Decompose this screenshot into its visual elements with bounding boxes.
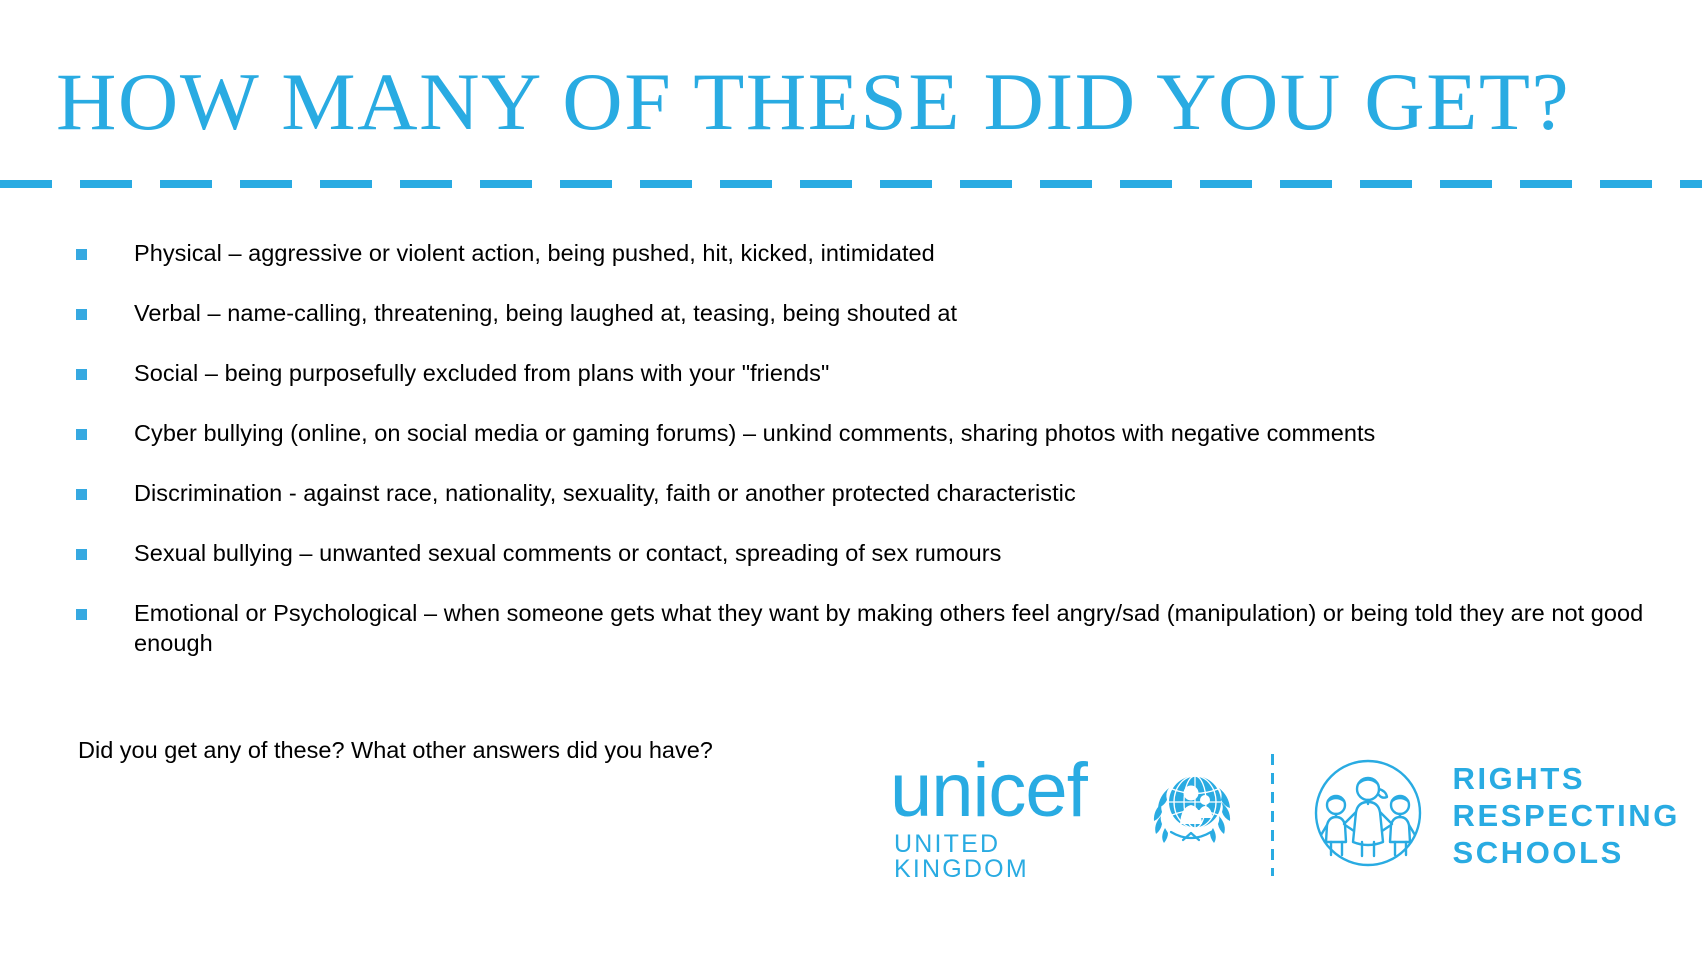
- list-item: Emotional or Psychological – when someon…: [76, 598, 1666, 658]
- list-item: Cyber bullying (online, on social media …: [76, 418, 1666, 448]
- rrs-wordmark: RIGHTS RESPECTING SCHOOLS: [1452, 760, 1680, 871]
- rrs-line-3: SCHOOLS: [1452, 834, 1680, 871]
- rrs-line-1: RIGHTS: [1452, 760, 1680, 797]
- list-item: Sexual bullying – unwanted sexual commen…: [76, 538, 1666, 568]
- list-item-label: Verbal – name-calling, threatening, bein…: [134, 298, 957, 328]
- rights-respecting-schools-logo: RIGHTS RESPECTING SCHOOLS: [1310, 755, 1680, 876]
- list-item: Verbal – name-calling, threatening, bein…: [76, 298, 1666, 328]
- logo-strip: unicef UNITED KINGDOM: [890, 745, 1680, 885]
- list-item-label: Emotional or Psychological – when someon…: [134, 598, 1666, 658]
- page-title: HOW MANY OF THESE DID YOU GET?: [56, 55, 1570, 149]
- unicef-logo: unicef UNITED KINGDOM: [890, 756, 1231, 882]
- list-item: Physical – aggressive or violent action,…: [76, 238, 1666, 268]
- square-bullet-icon: [76, 309, 87, 320]
- unicef-wordmark: unicef: [890, 756, 1087, 826]
- square-bullet-icon: [76, 489, 87, 500]
- list-item-label: Sexual bullying – unwanted sexual commen…: [134, 538, 1001, 568]
- square-bullet-icon: [76, 549, 87, 560]
- dashed-divider: [0, 180, 1702, 188]
- square-bullet-icon: [76, 609, 87, 620]
- rrs-line-2: RESPECTING: [1452, 797, 1680, 834]
- list-item: Discrimination - against race, nationali…: [76, 478, 1666, 508]
- unicef-country-label: UNITED KINGDOM: [894, 832, 1137, 882]
- bullet-list: Physical – aggressive or violent action,…: [76, 238, 1666, 688]
- square-bullet-icon: [76, 249, 87, 260]
- slide: HOW MANY OF THESE DID YOU GET? Physical …: [0, 0, 1702, 962]
- logo-separator: [1271, 754, 1275, 876]
- list-item-label: Cyber bullying (online, on social media …: [134, 418, 1375, 448]
- list-item-label: Physical – aggressive or violent action,…: [134, 238, 935, 268]
- square-bullet-icon: [76, 369, 87, 380]
- square-bullet-icon: [76, 429, 87, 440]
- list-item: Social – being purposefully excluded fro…: [76, 358, 1666, 388]
- unicef-globe-mother-child-emblem: [1145, 766, 1231, 851]
- three-children-in-circle-icon: [1310, 755, 1426, 876]
- list-item-label: Discrimination - against race, nationali…: [134, 478, 1076, 508]
- list-item-label: Social – being purposefully excluded fro…: [134, 358, 829, 388]
- closing-question: Did you get any of these? What other ans…: [78, 735, 713, 765]
